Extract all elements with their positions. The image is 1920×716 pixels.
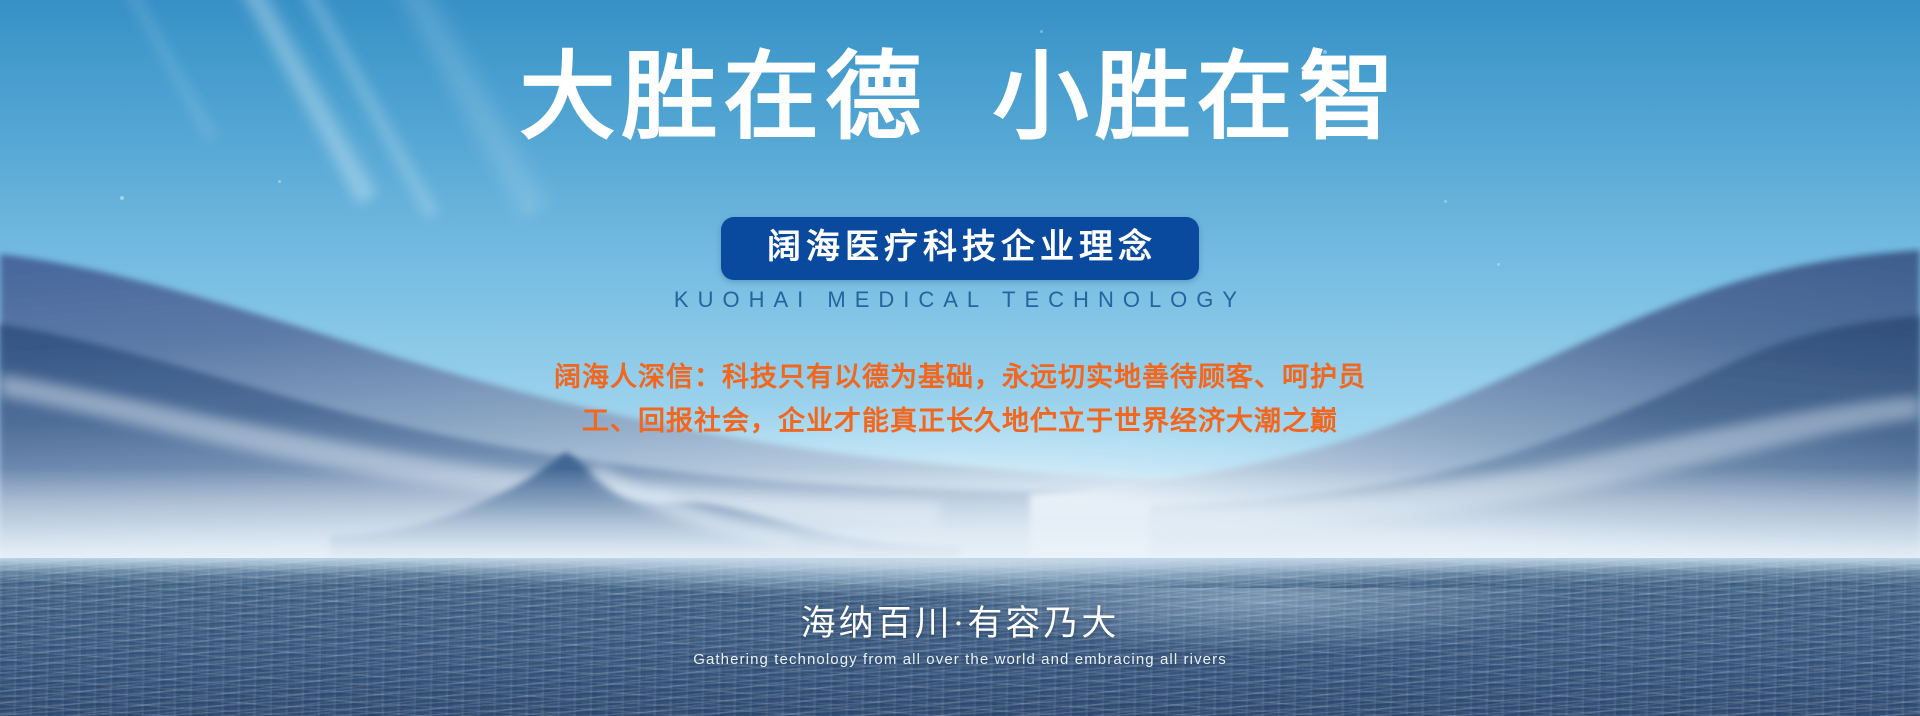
company-name-english: KUOHAI MEDICAL TECHNOLOGY — [0, 287, 1920, 313]
philosophy-paragraph-line-2: 工、回报社会，企业才能真正长久地伫立于世界经济大潮之巅 — [0, 399, 1920, 443]
banner-content: 大胜在德 小胜在智 阔海医疗科技企业理念 KUOHAI MEDICAL TECH… — [0, 0, 1920, 716]
motto-chinese: 海纳百川·有容乃大 — [0, 595, 1920, 646]
philosophy-paragraph-line-1: 阔海人深信：科技只有以德为基础，永远切实地善待顾客、呵护员 — [0, 355, 1920, 399]
company-philosophy-banner: 大胜在德 小胜在智 阔海医疗科技企业理念 KUOHAI MEDICAL TECH… — [0, 0, 1920, 716]
headline-slogan: 大胜在德 小胜在智 — [0, 48, 1920, 149]
motto-english: Gathering technology from all over the w… — [0, 651, 1920, 668]
philosophy-badge: 阔海医疗科技企业理念 — [721, 217, 1199, 280]
badge-container: 阔海医疗科技企业理念 — [0, 217, 1920, 280]
philosophy-paragraph: 阔海人深信：科技只有以德为基础，永远切实地善待顾客、呵护员 工、回报社会，企业才… — [0, 355, 1920, 443]
